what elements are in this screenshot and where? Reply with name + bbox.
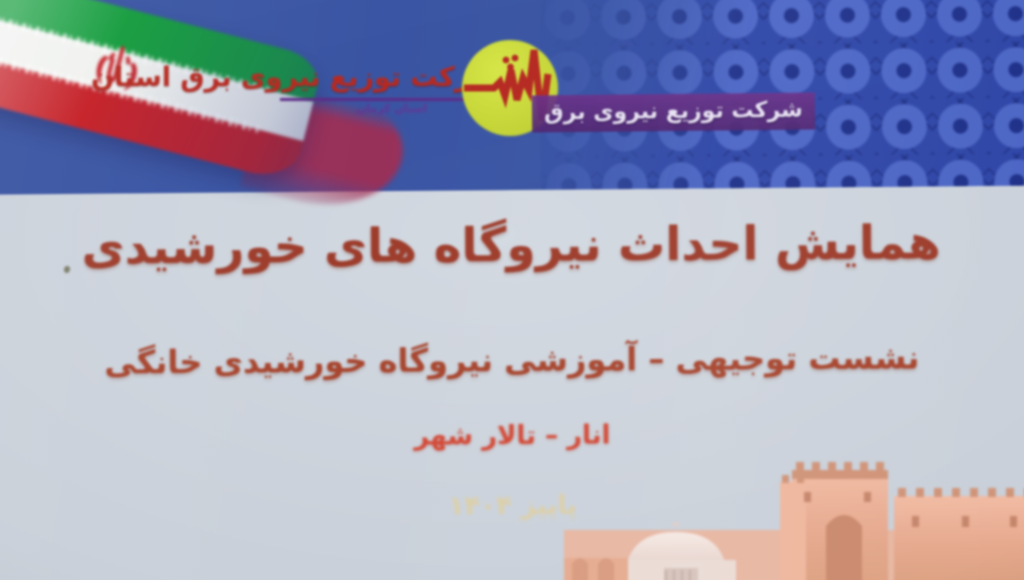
slide-subtitle: نشست توجیهی – آموزشی نیروگاه خورشیدی خان… bbox=[0, 338, 1024, 382]
slide-text-content: همایش احداث نیروگاه های خورشیدی نشست توج… bbox=[0, 193, 1024, 580]
company-name-label: شرکت توزیع نیروی برق bbox=[544, 98, 803, 126]
slide-photograph: ش‍رکت توزی‍ع نی‍روی ب‍رق اس‍تان استان کر… bbox=[0, 0, 1024, 580]
slide-title: همایش احداث نیروگاه های خورشیدی bbox=[0, 215, 1023, 276]
slide-venue: انار – تالار شهر bbox=[0, 418, 1024, 454]
slide-season-date: پاییز ۱۴۰۴ bbox=[1, 488, 1024, 524]
company-name-band: شرکت توزیع نیروی برق bbox=[532, 93, 815, 133]
company-logo-group: ش‍رکت توزی‍ع نی‍روی ب‍رق اس‍تان استان کر… bbox=[286, 42, 596, 146]
projected-slide-surface: ش‍رکت توزی‍ع نی‍روی ب‍رق اس‍تان استان کر… bbox=[0, 0, 1024, 580]
